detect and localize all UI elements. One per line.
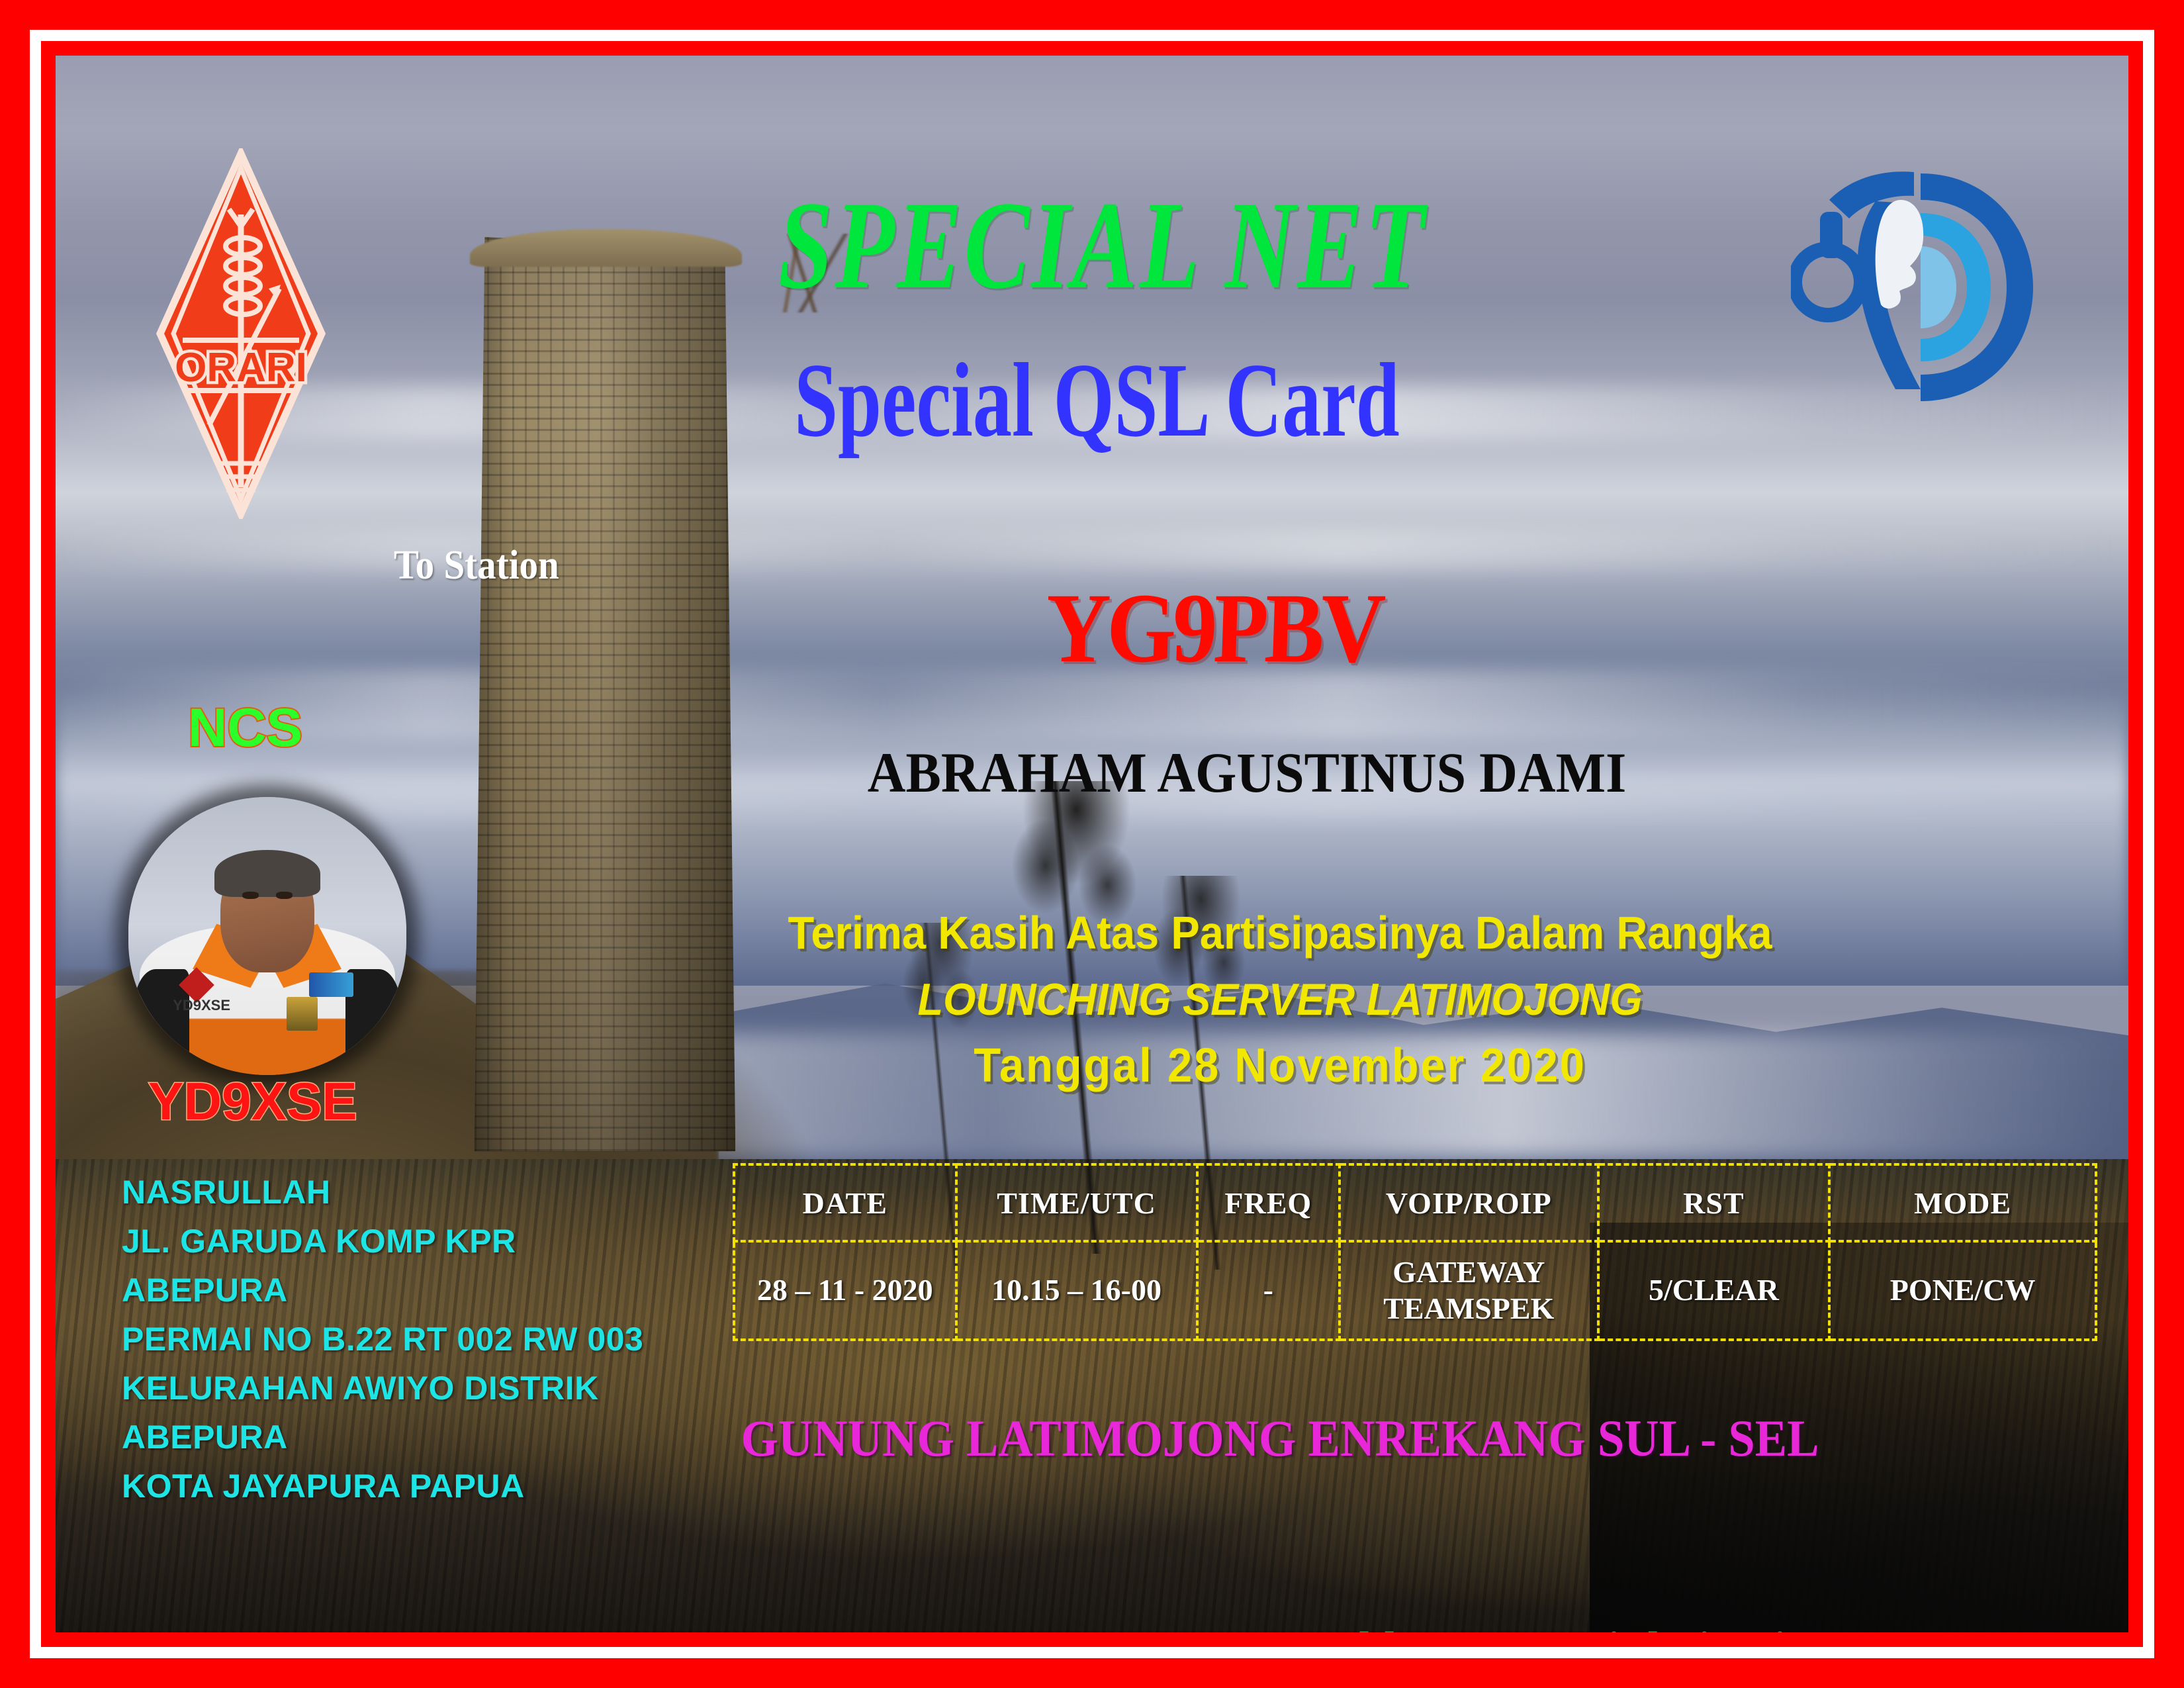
address-line: ABEPURA bbox=[122, 1413, 643, 1462]
cloud-band bbox=[56, 529, 2128, 570]
address-line: JL. GARUDA KOMP KPR bbox=[122, 1217, 643, 1266]
cell-freq: - bbox=[1197, 1241, 1340, 1340]
to-station-label: To Station bbox=[394, 542, 559, 589]
column-header-voip: VOIP/ROIP bbox=[1340, 1164, 1598, 1241]
cell-time: 10.15 – 16-00 bbox=[956, 1241, 1197, 1340]
location-line: GUNUNG LATIMOJONG ENREKANG SUL - SEL bbox=[696, 1413, 1865, 1464]
column-header-freq: FREQ bbox=[1197, 1164, 1340, 1241]
table-header-row: DATE TIME/UTC FREQ VOIP/ROIP RST MODE bbox=[734, 1164, 2096, 1241]
address-line: NASRULLAH bbox=[122, 1168, 643, 1217]
page-subtitle: Special QSL Card bbox=[325, 347, 1859, 453]
address-line: ABEPURA bbox=[122, 1266, 643, 1315]
footer-motto: "AMATIR RADIO ADALAH PROGRESIVE" bbox=[128, 1626, 1018, 1632]
table-row: 28 – 11 - 2020 10.15 – 16-00 - GATEWAY T… bbox=[734, 1241, 2096, 1340]
address-line: KOTA JAYAPURA PAPUA bbox=[122, 1462, 643, 1511]
column-header-mode: MODE bbox=[1829, 1164, 2096, 1241]
address-block: NASRULLAH JL. GARUDA KOMP KPR ABEPURA PE… bbox=[122, 1168, 643, 1511]
cell-mode: PONE/CW bbox=[1829, 1241, 2096, 1340]
photo-hair bbox=[214, 850, 320, 897]
photo-chest-emblem bbox=[309, 972, 353, 998]
station-callsign: YG9PBV bbox=[944, 579, 1484, 678]
ncs-callsign: YD9XSE bbox=[148, 1075, 357, 1128]
card-photo-background: ORARI SPECIAL NET Spe bbox=[56, 56, 2128, 1632]
event-date-line: Tanggal 28 November 2020 bbox=[696, 1042, 1865, 1090]
photo-eye-right bbox=[276, 892, 293, 899]
cell-date: 28 – 11 - 2020 bbox=[734, 1241, 956, 1340]
qso-log-table: DATE TIME/UTC FREQ VOIP/ROIP RST MODE 28… bbox=[733, 1163, 2097, 1341]
operator-name: ABRAHAM AGUSTINUS DAMI bbox=[693, 744, 1801, 801]
ncs-operator-photo: YD9XSE bbox=[128, 797, 406, 1075]
cell-voip-word1: GATEWAY bbox=[1392, 1255, 1545, 1289]
cell-rst: 5/CLEAR bbox=[1598, 1241, 1830, 1340]
ncs-label: NCS bbox=[188, 701, 302, 755]
event-title-line: LOUNCHING SERVER LATIMOJONG bbox=[696, 977, 1865, 1022]
photo-shirt-callsign: YD9XSE bbox=[173, 997, 230, 1014]
qsl-card: ORARI SPECIAL NET Spe bbox=[0, 0, 2184, 1688]
column-header-date: DATE bbox=[734, 1164, 956, 1241]
page-title: SPECIAL NET bbox=[284, 183, 1901, 308]
svg-text:ORARI: ORARI bbox=[175, 345, 307, 391]
column-header-rst: RST bbox=[1598, 1164, 1830, 1241]
photo-sleeve-right bbox=[345, 969, 401, 1069]
footer-web-address: Address : amatir.latimojong.com bbox=[1313, 1624, 1949, 1632]
address-line: PERMAI NO B.22 RT 002 RW 003 bbox=[122, 1315, 643, 1364]
cell-voip-word2: TEAMSPEK bbox=[1383, 1291, 1554, 1325]
photo-eye-left bbox=[242, 892, 259, 899]
column-header-time: TIME/UTC bbox=[956, 1164, 1197, 1241]
photo-id-badge bbox=[287, 997, 317, 1030]
cell-voip: GATEWAY TEAMSPEK bbox=[1340, 1241, 1598, 1340]
event-thanks-line: Terima Kasih Atas Partisipasinya Dalam R… bbox=[696, 910, 1865, 956]
address-line: KELURAHAN AWIYO DISTRIK bbox=[122, 1364, 643, 1413]
